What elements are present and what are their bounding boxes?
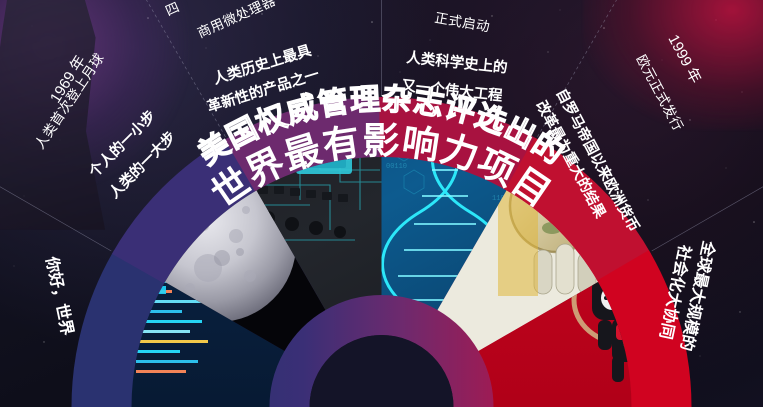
- hairline-divider: [0, 172, 111, 251]
- radial-fan-infographic: 0110111010 0011010110 0101111001: [0, 0, 763, 407]
- poster-stage: 0110111010 0011010110 0101111001: [0, 0, 763, 407]
- hairline-divider: [652, 172, 763, 251]
- svg-text:00110: 00110: [386, 163, 407, 171]
- label-microprocessor: 商用微处理器: [195, 0, 278, 41]
- label-genome-line1: 人类科学史上的: [406, 48, 509, 77]
- label-year-1999: 1999 年: [664, 32, 704, 86]
- label-genome-start: 正式启动: [433, 10, 491, 34]
- label-hello-world: 你好，世界: [42, 254, 77, 337]
- label-microprocessor-top: 四: [163, 0, 182, 19]
